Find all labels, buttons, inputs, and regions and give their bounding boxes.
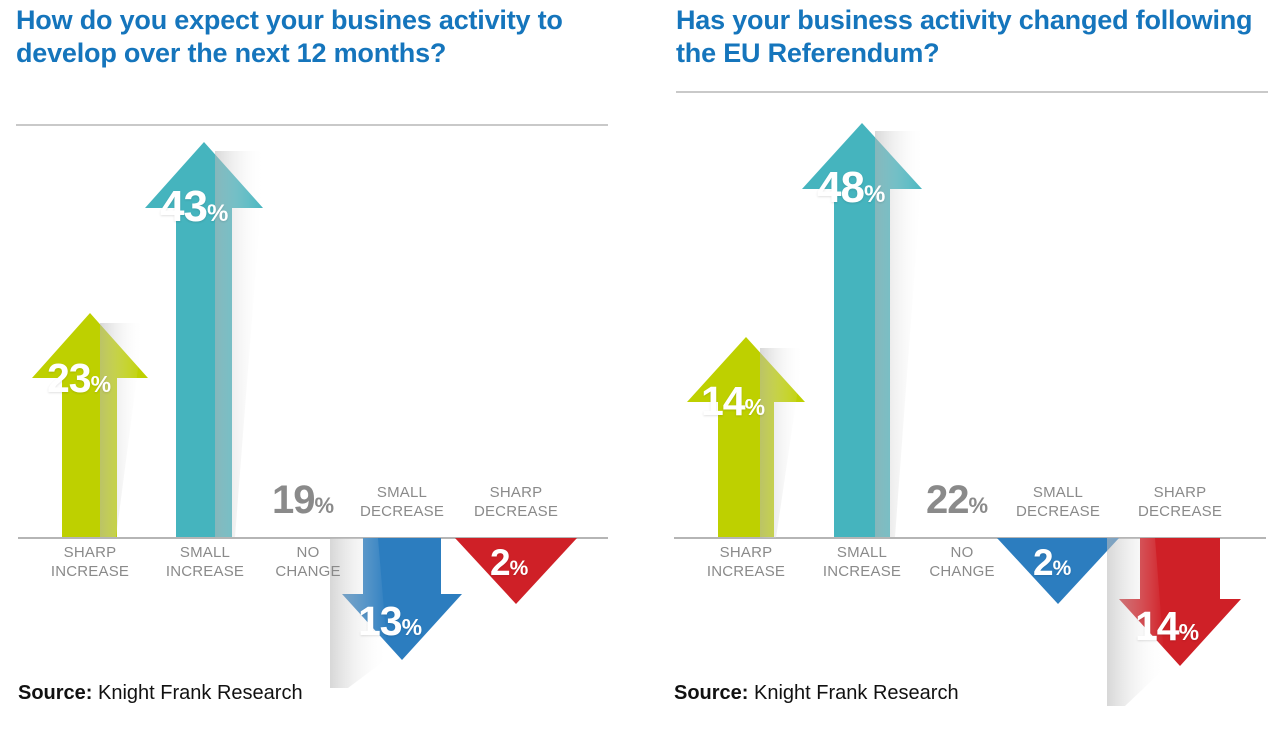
value-small-increase-right: 48% [817,163,885,213]
value-number: 19 [272,478,315,522]
value-percent: % [207,200,228,227]
arrow-stem-small-increase-right [834,188,890,537]
value-percent: % [1179,619,1199,645]
value-percent: % [402,614,422,640]
source-text: Knight Frank Research [748,682,958,704]
source-note-right: Source: Knight Frank Research [674,682,959,705]
arrow-stem-small-decrease-left [363,538,441,596]
category-label-no-change-right: NO CHANGE [912,543,1012,581]
value-sharp-increase-right: 14% [701,378,765,425]
value-no-change-left: 19% [272,478,334,523]
value-sharp-increase-left: 23% [47,355,111,402]
chart-panel-left: How do you expect your busines activity … [0,0,641,736]
source-text: Knight Frank Research [92,682,302,704]
category-label-sharp-increase-right: SHARP INCREASE [686,543,806,581]
category-label-small-decrease-right: SMALL DECREASE [998,483,1118,521]
value-percent: % [315,493,335,518]
value-small-decrease-left: 13% [358,598,422,645]
category-label-small-increase-right: SMALL INCREASE [802,543,922,581]
value-small-decrease-right: 2% [1033,542,1071,584]
value-percent: % [864,181,885,208]
category-label-no-change-left: NO CHANGE [258,543,358,581]
value-sharp-decrease-left: 2% [490,542,528,584]
chart-panel-right: Has your business activity changed follo… [660,0,1282,736]
value-number: 23 [47,355,91,401]
value-number: 14 [701,378,745,424]
category-label-small-decrease-left: SMALL DECREASE [342,483,462,521]
arrow-stem-sharp-decrease-right [1140,538,1220,601]
arrow-stem-small-increase-left [176,206,232,537]
value-sharp-decrease-right: 14% [1135,603,1199,650]
value-number: 43 [160,182,207,231]
value-percent: % [510,557,529,580]
value-number: 13 [358,598,402,644]
value-percent: % [745,394,765,420]
source-label: Source: [18,682,92,704]
value-percent: % [91,371,111,397]
source-label: Source: [674,682,748,704]
value-number: 48 [817,163,864,212]
value-small-increase-left: 43% [160,182,228,232]
value-number: 2 [490,542,510,583]
infographic-page: How do you expect your busines activity … [0,0,1282,736]
category-label-small-increase-left: SMALL INCREASE [145,543,265,581]
value-no-change-right: 22% [926,478,988,523]
value-number: 14 [1135,603,1179,649]
value-percent: % [1053,557,1072,580]
category-label-sharp-decrease-right: SHARP DECREASE [1120,483,1240,521]
arrow-chart-right: 14% SHARP INCREASE 48% SMALL INCREASE [660,0,1282,736]
value-percent: % [969,493,989,518]
category-label-sharp-increase-left: SHARP INCREASE [30,543,150,581]
value-number: 22 [926,478,969,522]
category-label-sharp-decrease-left: SHARP DECREASE [456,483,576,521]
arrow-chart-left: 23% SHARP INCREASE 43% SMALL INCREASE [0,0,641,736]
value-number: 2 [1033,542,1053,583]
source-note-left: Source: Knight Frank Research [18,682,303,705]
